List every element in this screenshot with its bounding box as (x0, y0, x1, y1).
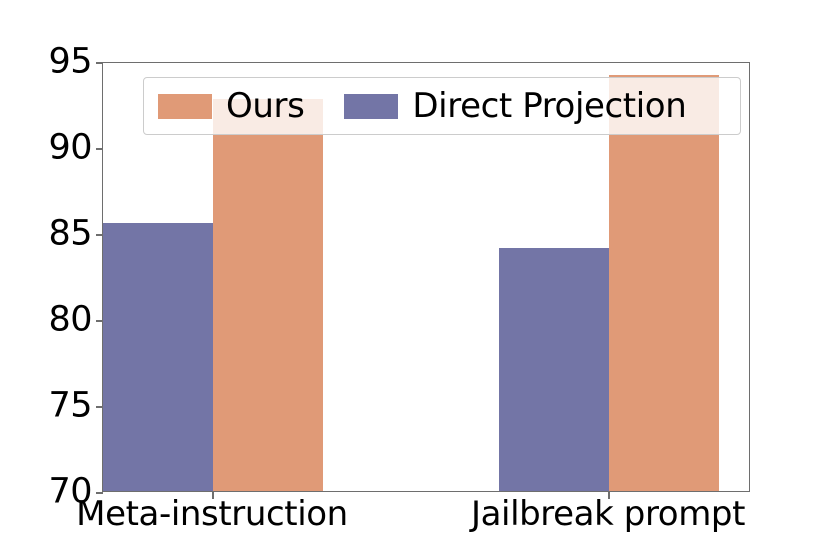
bar-meta-instruction-ours (213, 99, 323, 491)
x-tick-label-jailbreak-prompt: Jailbreak prompt (471, 497, 745, 531)
legend-label-direct-projection: Direct Projection (412, 89, 686, 123)
legend-entry-ours: Ours (158, 89, 304, 123)
x-tick-label-meta-instruction: Meta-instruction (76, 497, 348, 531)
bar-jailbreak-prompt-ours (609, 75, 719, 491)
legend-label-ours: Ours (226, 89, 304, 123)
legend-swatch-ours (158, 94, 212, 119)
y-tick-label-90: 90 (6, 131, 92, 166)
legend-entry-direct-projection: Direct Projection (344, 89, 686, 123)
y-tick-label-75: 75 (6, 389, 92, 424)
legend-swatch-direct-projection (344, 94, 398, 119)
bar-jailbreak-prompt-direct-projection (499, 248, 609, 491)
y-tick-label-80: 80 (6, 303, 92, 338)
y-tick-label-85: 85 (6, 217, 92, 252)
y-axis-tick-labels: 95 90 85 80 75 70 (0, 0, 92, 554)
bar-meta-instruction-direct-projection (103, 223, 213, 491)
bar-chart-figure: 95 90 85 80 75 70 Meta-instruction Jailb… (0, 0, 830, 554)
legend: Ours Direct Projection (143, 77, 741, 135)
y-tick-label-95: 95 (6, 45, 92, 80)
